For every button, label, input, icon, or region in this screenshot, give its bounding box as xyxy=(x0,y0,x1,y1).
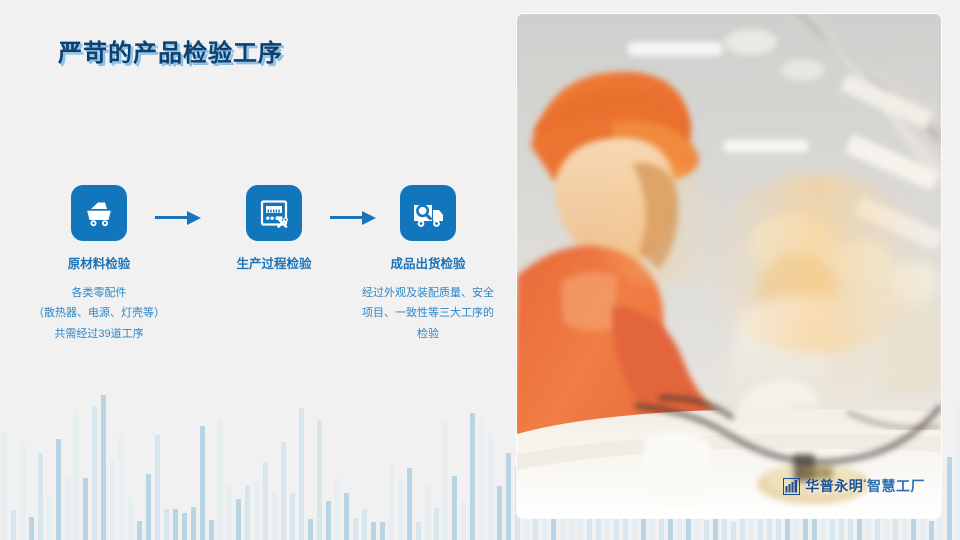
decorative-bar xyxy=(65,477,70,540)
decorative-bar xyxy=(254,504,259,540)
decorative-bar xyxy=(20,441,25,540)
decorative-bar xyxy=(452,476,457,540)
brand-name: 华普永明 xyxy=(805,478,863,494)
decorative-bar xyxy=(371,522,376,540)
decorative-bar xyxy=(155,435,160,540)
decorative-bar xyxy=(110,460,115,540)
decorative-bar xyxy=(119,445,124,540)
decorative-bar xyxy=(344,493,349,540)
decorative-bar xyxy=(83,478,88,540)
decorative-bar xyxy=(245,485,250,540)
decorative-bar xyxy=(110,475,115,540)
flow-step-label: 成品出货检验 xyxy=(340,253,516,272)
inspection-machine-icon xyxy=(246,185,302,241)
brand-suffix: 智慧工厂 xyxy=(867,478,925,494)
decorative-bar xyxy=(677,517,682,540)
decorative-bar xyxy=(74,428,79,540)
mine-cart-icon xyxy=(71,185,127,241)
flow-step-desc-line: 项目、一致性等三大工序的 xyxy=(340,303,516,323)
decorative-bar xyxy=(65,513,70,540)
decorative-bar xyxy=(290,493,295,540)
factory-photo-image xyxy=(517,14,941,518)
decorative-bar xyxy=(398,478,403,540)
decorative-bar xyxy=(479,417,484,540)
decorative-bar xyxy=(398,505,403,540)
decorative-bar xyxy=(479,437,484,540)
flow-step-desc-line: 共需经过39道工序 xyxy=(10,324,188,344)
decorative-bar xyxy=(389,463,394,540)
decorative-bar xyxy=(182,513,187,540)
decorative-bar xyxy=(407,468,412,540)
decorative-bar xyxy=(272,512,277,540)
decorative-bar xyxy=(335,478,340,540)
decorative-bar xyxy=(920,515,925,540)
decorative-bar xyxy=(434,508,439,540)
truck-magnifier-icon xyxy=(400,185,456,241)
decorative-bar xyxy=(443,448,448,540)
decorative-bar xyxy=(947,457,952,540)
decorative-bar xyxy=(227,514,232,540)
decorative-bar xyxy=(443,422,448,540)
decorative-bar xyxy=(137,521,142,540)
decorative-bar xyxy=(731,522,736,540)
decorative-bar xyxy=(128,497,133,540)
decorative-bar xyxy=(209,520,214,540)
decorative-bar xyxy=(281,442,286,540)
flow-step-description: 经过外观及装配质量、安全 项目、一致性等三大工序的 检验 xyxy=(340,283,516,344)
decorative-bar xyxy=(164,509,169,540)
decorative-bar xyxy=(308,519,313,540)
decorative-bar xyxy=(560,520,565,540)
brand-logo: 华普永明°智慧工厂 xyxy=(783,476,925,496)
decorative-bar xyxy=(20,464,25,540)
decorative-bar xyxy=(317,420,322,540)
decorative-bar xyxy=(506,453,511,540)
decorative-bar xyxy=(416,522,421,540)
flow-step-raw-material[interactable]: 原材料检验 各类零配件 （散热器、电源、灯壳等） 共需经过39道工序 xyxy=(10,185,188,344)
factory-photo: 华普永明°智慧工厂 xyxy=(517,14,941,518)
flow-step-desc-line: 各类零配件 xyxy=(10,283,188,303)
decorative-bar xyxy=(38,453,43,540)
decorative-bar xyxy=(929,521,934,540)
decorative-bar xyxy=(335,503,340,540)
flow-step-description: 各类零配件 （散热器、电源、灯壳等） 共需经过39道工序 xyxy=(10,283,188,344)
decorative-bar xyxy=(380,522,385,540)
flow-step-label: 生产过程检验 xyxy=(196,253,352,272)
decorative-bar xyxy=(362,509,367,540)
decorative-bar xyxy=(74,409,79,540)
decorative-bar xyxy=(227,486,232,540)
decorative-bar xyxy=(272,492,277,540)
decorative-bar xyxy=(146,474,151,540)
decorative-bar xyxy=(497,486,502,540)
decorative-bar xyxy=(101,395,106,540)
brand-logo-text: 华普永明°智慧工厂 xyxy=(805,476,925,496)
decorative-bar xyxy=(2,431,7,540)
decorative-bar xyxy=(299,408,304,540)
process-flow: 原材料检验 各类零配件 （散热器、电源、灯壳等） 共需经过39道工序 xyxy=(0,185,517,385)
decorative-bar xyxy=(56,439,61,540)
decorative-bar xyxy=(218,452,223,540)
decorative-bar xyxy=(488,463,493,540)
decorative-bar xyxy=(470,413,475,540)
flow-step-label: 原材料检验 xyxy=(10,253,188,272)
decorative-bar xyxy=(173,509,178,540)
decorative-bar xyxy=(254,482,259,540)
decorative-bar xyxy=(200,426,205,540)
decorative-bar xyxy=(2,442,7,540)
decorative-bar xyxy=(425,486,430,540)
decorative-bar xyxy=(542,520,547,540)
decorative-bar xyxy=(821,520,826,540)
decorative-bar xyxy=(128,511,133,540)
decorative-bar xyxy=(956,435,960,540)
flow-step-finished-goods[interactable]: 成品出货检验 经过外观及装配质量、安全 项目、一致性等三大工序的 检验 xyxy=(340,185,516,344)
arrow-shaft xyxy=(155,216,189,219)
flow-step-desc-line: 检验 xyxy=(340,324,516,344)
decorative-bar xyxy=(632,518,637,540)
slide-canvas: 严苛的产品检验工序 原材料检验 各类零配件 （散热器、电源、灯壳等） 共需经过3… xyxy=(0,0,960,540)
decorative-bar xyxy=(704,520,709,540)
factory-logo-icon xyxy=(783,478,800,495)
page-title: 严苛的产品检验工序 xyxy=(58,33,283,68)
decorative-bar xyxy=(956,406,960,540)
decorative-bar xyxy=(389,486,394,540)
decorative-bar xyxy=(119,433,124,540)
decorative-bar xyxy=(191,507,196,540)
decorative-bar xyxy=(236,499,241,540)
decorative-bar xyxy=(353,518,358,540)
decorative-bar xyxy=(29,517,34,540)
decorative-bar xyxy=(488,433,493,540)
decorative-bar xyxy=(326,501,331,540)
decorative-bar xyxy=(425,497,430,540)
decorative-bar xyxy=(461,522,466,540)
flow-step-production[interactable]: 生产过程检验 xyxy=(196,185,352,272)
decorative-bar xyxy=(47,519,52,540)
decorative-bar xyxy=(92,406,97,540)
decorative-bar xyxy=(461,501,466,540)
decorative-bar xyxy=(218,419,223,540)
flow-step-desc-line: （散热器、电源、灯壳等） xyxy=(10,303,188,323)
decorative-bar xyxy=(47,495,52,540)
decorative-bar xyxy=(11,510,16,540)
decorative-bar xyxy=(263,462,268,540)
flow-step-desc-line: 经过外观及装配质量、安全 xyxy=(340,283,516,303)
